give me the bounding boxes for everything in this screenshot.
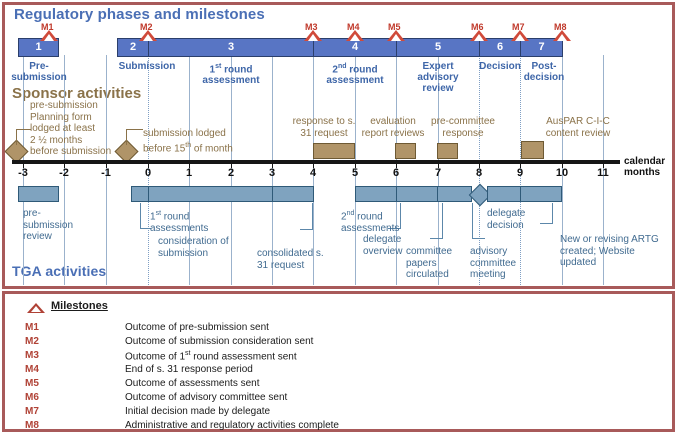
legend-item-description: Outcome of assessments sent bbox=[125, 378, 260, 389]
milestone-marker-inner bbox=[515, 34, 525, 41]
phase-bar-label: 4 bbox=[352, 41, 358, 53]
page-title: Regulatory phases and milestones bbox=[14, 6, 265, 23]
milestone-label-m2: M2 bbox=[140, 22, 153, 32]
phase-bar-label: 1 bbox=[35, 41, 41, 53]
milestone-marker-inner bbox=[474, 34, 484, 41]
sponsor-box-auspar[interactable] bbox=[521, 141, 544, 159]
tga-leader-line-s31 bbox=[300, 203, 313, 230]
sponsor-leader-line-1 bbox=[16, 129, 31, 145]
tga-note-delegate-decision: delegate decision bbox=[487, 208, 541, 231]
legend-item-code: M4 bbox=[25, 364, 39, 375]
tga-bar-artg-update[interactable] bbox=[520, 186, 562, 202]
milestone-label-m5: M5 bbox=[388, 22, 401, 32]
milestone-label-m8: M8 bbox=[554, 22, 567, 32]
tga-note-artg-update: New or revising ARTG created; Website up… bbox=[560, 234, 664, 269]
sponsor-note-s31-response: response to s. 31 request bbox=[287, 116, 361, 139]
legend-item-code: M8 bbox=[25, 420, 39, 431]
tga-bar-second-round-assessments[interactable] bbox=[355, 186, 397, 202]
tga-bar-consolidated-s31[interactable] bbox=[272, 186, 314, 202]
phase-caption-line2: submission bbox=[4, 72, 74, 83]
axis-tick-label: 8 bbox=[467, 167, 491, 179]
axis-tick-label: -2 bbox=[52, 167, 76, 179]
tga-bar-consideration[interactable] bbox=[131, 186, 149, 202]
axis-caption-line1: calendar bbox=[624, 156, 665, 167]
tga-note-consideration: consideration of submission bbox=[158, 236, 254, 259]
milestone-label-m3: M3 bbox=[305, 22, 318, 32]
milestone-label-m6: M6 bbox=[471, 22, 484, 32]
axis-tick-label: 3 bbox=[260, 167, 284, 179]
tga-bar-delegate-decision[interactable] bbox=[487, 186, 521, 202]
axis-tick-label: 0 bbox=[136, 167, 160, 179]
axis-tick-label: 2 bbox=[219, 167, 243, 179]
phase-caption-line1: Expert bbox=[396, 61, 480, 72]
phase-bar-label: 6 bbox=[497, 41, 503, 53]
milestone-label-m4: M4 bbox=[347, 22, 360, 32]
legend-item-code: M3 bbox=[25, 350, 39, 361]
legend-item-description: Outcome of advisory committee sent bbox=[125, 392, 287, 403]
tga-bar-presubmission-review[interactable] bbox=[18, 186, 59, 202]
tga-bar-committee-papers[interactable] bbox=[437, 186, 472, 202]
tga-note-second-round-assessments: 2nd round assessments bbox=[341, 208, 415, 234]
sponsor-note-evaluation-reports: evaluation report reviews bbox=[360, 116, 426, 139]
phase-caption-line2: assessment bbox=[313, 75, 397, 86]
axis-tick-label: 5 bbox=[343, 167, 367, 179]
tga-activities-title: TGA activities bbox=[12, 263, 106, 279]
phase-caption-2: Submission bbox=[106, 61, 188, 72]
legend-item-code: M2 bbox=[25, 336, 39, 347]
milestone-label-m7: M7 bbox=[512, 22, 525, 32]
legend-item-description: Outcome of submission consideration sent bbox=[125, 336, 313, 347]
phase-bar-label: 7 bbox=[538, 41, 544, 53]
tga-note-advisory-meeting: advisory committee meeting bbox=[470, 246, 530, 281]
phase-caption-line2: advisory bbox=[396, 72, 480, 83]
legend-item-code: M7 bbox=[25, 406, 39, 417]
tga-note-presubmission-review: pre-submission review bbox=[23, 208, 89, 243]
tga-leader-line-delegate-decision bbox=[540, 203, 553, 224]
legend-item-description: Administrative and regulatory activities… bbox=[125, 420, 339, 431]
milestone-marker-inner bbox=[350, 34, 360, 41]
legend-item-description: Initial decision made by delegate bbox=[125, 406, 270, 417]
tga-bar-delegate-overview[interactable] bbox=[396, 186, 438, 202]
milestone-marker-inner bbox=[143, 34, 153, 41]
phase-bar-label: 5 bbox=[435, 41, 441, 53]
legend-item-code: M6 bbox=[25, 392, 39, 403]
axis-tick-label: 1 bbox=[177, 167, 201, 179]
axis-tick-label: 10 bbox=[550, 167, 574, 179]
phase-caption-line1: Post- bbox=[521, 61, 567, 72]
phase-caption-line1: Decision bbox=[477, 61, 523, 72]
axis-tick-label: -3 bbox=[11, 167, 35, 179]
phase-caption-line2: decision bbox=[521, 72, 567, 83]
sponsor-leader-line-2 bbox=[126, 129, 143, 145]
regulatory-timeline-figure: Regulatory phases and milestones Sponsor… bbox=[0, 0, 677, 434]
legend-item-description: Outcome of 1st round assessment sent bbox=[125, 350, 297, 362]
phase-bar-label: 2 bbox=[130, 41, 136, 53]
axis-tick-label: 6 bbox=[384, 167, 408, 179]
axis-tick-label: -1 bbox=[94, 167, 118, 179]
phase-caption-4: 2nd round assessment bbox=[313, 61, 397, 86]
phase-caption-7: Post- decision bbox=[521, 61, 567, 83]
milestone-marker-inner bbox=[557, 34, 567, 41]
milestone-marker-inner bbox=[391, 34, 401, 41]
sponsor-box-s31-response[interactable] bbox=[313, 143, 355, 159]
phase-bar-5[interactable]: 5 bbox=[396, 38, 480, 57]
legend-item-description: Outcome of pre-submission sent bbox=[125, 322, 269, 333]
milestone-label-m1: M1 bbox=[41, 22, 54, 32]
tga-leader-line-committee-papers bbox=[430, 203, 443, 239]
tga-note-committee-papers: committee papers circulated bbox=[406, 246, 464, 281]
phase-caption-line3: review bbox=[396, 83, 480, 94]
tga-note-first-round-assessments: 1st round assessments bbox=[150, 208, 222, 234]
sponsor-note-auspar: AusPAR C-I-C content review bbox=[530, 116, 626, 139]
axis-tick-label: 11 bbox=[591, 167, 615, 179]
phase-caption-line1: 1st round bbox=[188, 61, 274, 75]
phase-bar-label: 3 bbox=[228, 41, 234, 53]
tga-leader-line-advisory-meeting bbox=[472, 203, 485, 239]
phase-caption-line1: Submission bbox=[106, 61, 188, 72]
sponsor-note-submission: submission lodged before 15th of month bbox=[143, 128, 247, 154]
milestone-triangle-inner-icon bbox=[31, 306, 41, 312]
axis-tick-label: 4 bbox=[301, 167, 325, 179]
phase-caption-3: 1st round assessment bbox=[188, 61, 274, 86]
legend-title: Milestones bbox=[51, 300, 108, 312]
sponsor-box-precommittee[interactable] bbox=[437, 143, 458, 159]
tga-note-consolidated-s31: consolidated s. 31 request bbox=[257, 248, 335, 271]
axis-caption-line2: months bbox=[624, 167, 665, 178]
phase-caption-5: Expert advisory review bbox=[396, 61, 480, 94]
tga-bar-first-round-assessments[interactable] bbox=[148, 186, 273, 202]
axis-caption: calendar months bbox=[624, 156, 665, 178]
legend-panel-frame: Milestones M1 Outcome of pre-submission … bbox=[2, 291, 675, 432]
axis-tick-label: 9 bbox=[508, 167, 532, 179]
phase-bar-3[interactable]: 3 bbox=[148, 38, 314, 57]
milestone-marker-inner bbox=[44, 34, 54, 41]
sponsor-note-presubmission: pre-submission Planning form lodged at l… bbox=[30, 100, 112, 158]
phase-caption-6: Decision bbox=[477, 61, 523, 72]
phase-caption-line2: assessment bbox=[188, 75, 274, 86]
legend-item-code: M1 bbox=[25, 322, 39, 333]
axis-tick-label: 7 bbox=[426, 167, 450, 179]
milestone-marker-inner bbox=[308, 34, 318, 41]
phase-caption-line1: 2nd round bbox=[313, 61, 397, 75]
sponsor-box-evaluation-reports[interactable] bbox=[395, 143, 416, 159]
phase-caption-line1: Pre- bbox=[4, 61, 74, 72]
time-axis bbox=[12, 160, 620, 164]
legend-item-code: M5 bbox=[25, 378, 39, 389]
sponsor-note-precommittee: pre-committee response bbox=[430, 116, 496, 139]
phase-caption-1: Pre- submission bbox=[4, 61, 74, 83]
legend-item-description: End of s. 31 response period bbox=[125, 364, 253, 375]
